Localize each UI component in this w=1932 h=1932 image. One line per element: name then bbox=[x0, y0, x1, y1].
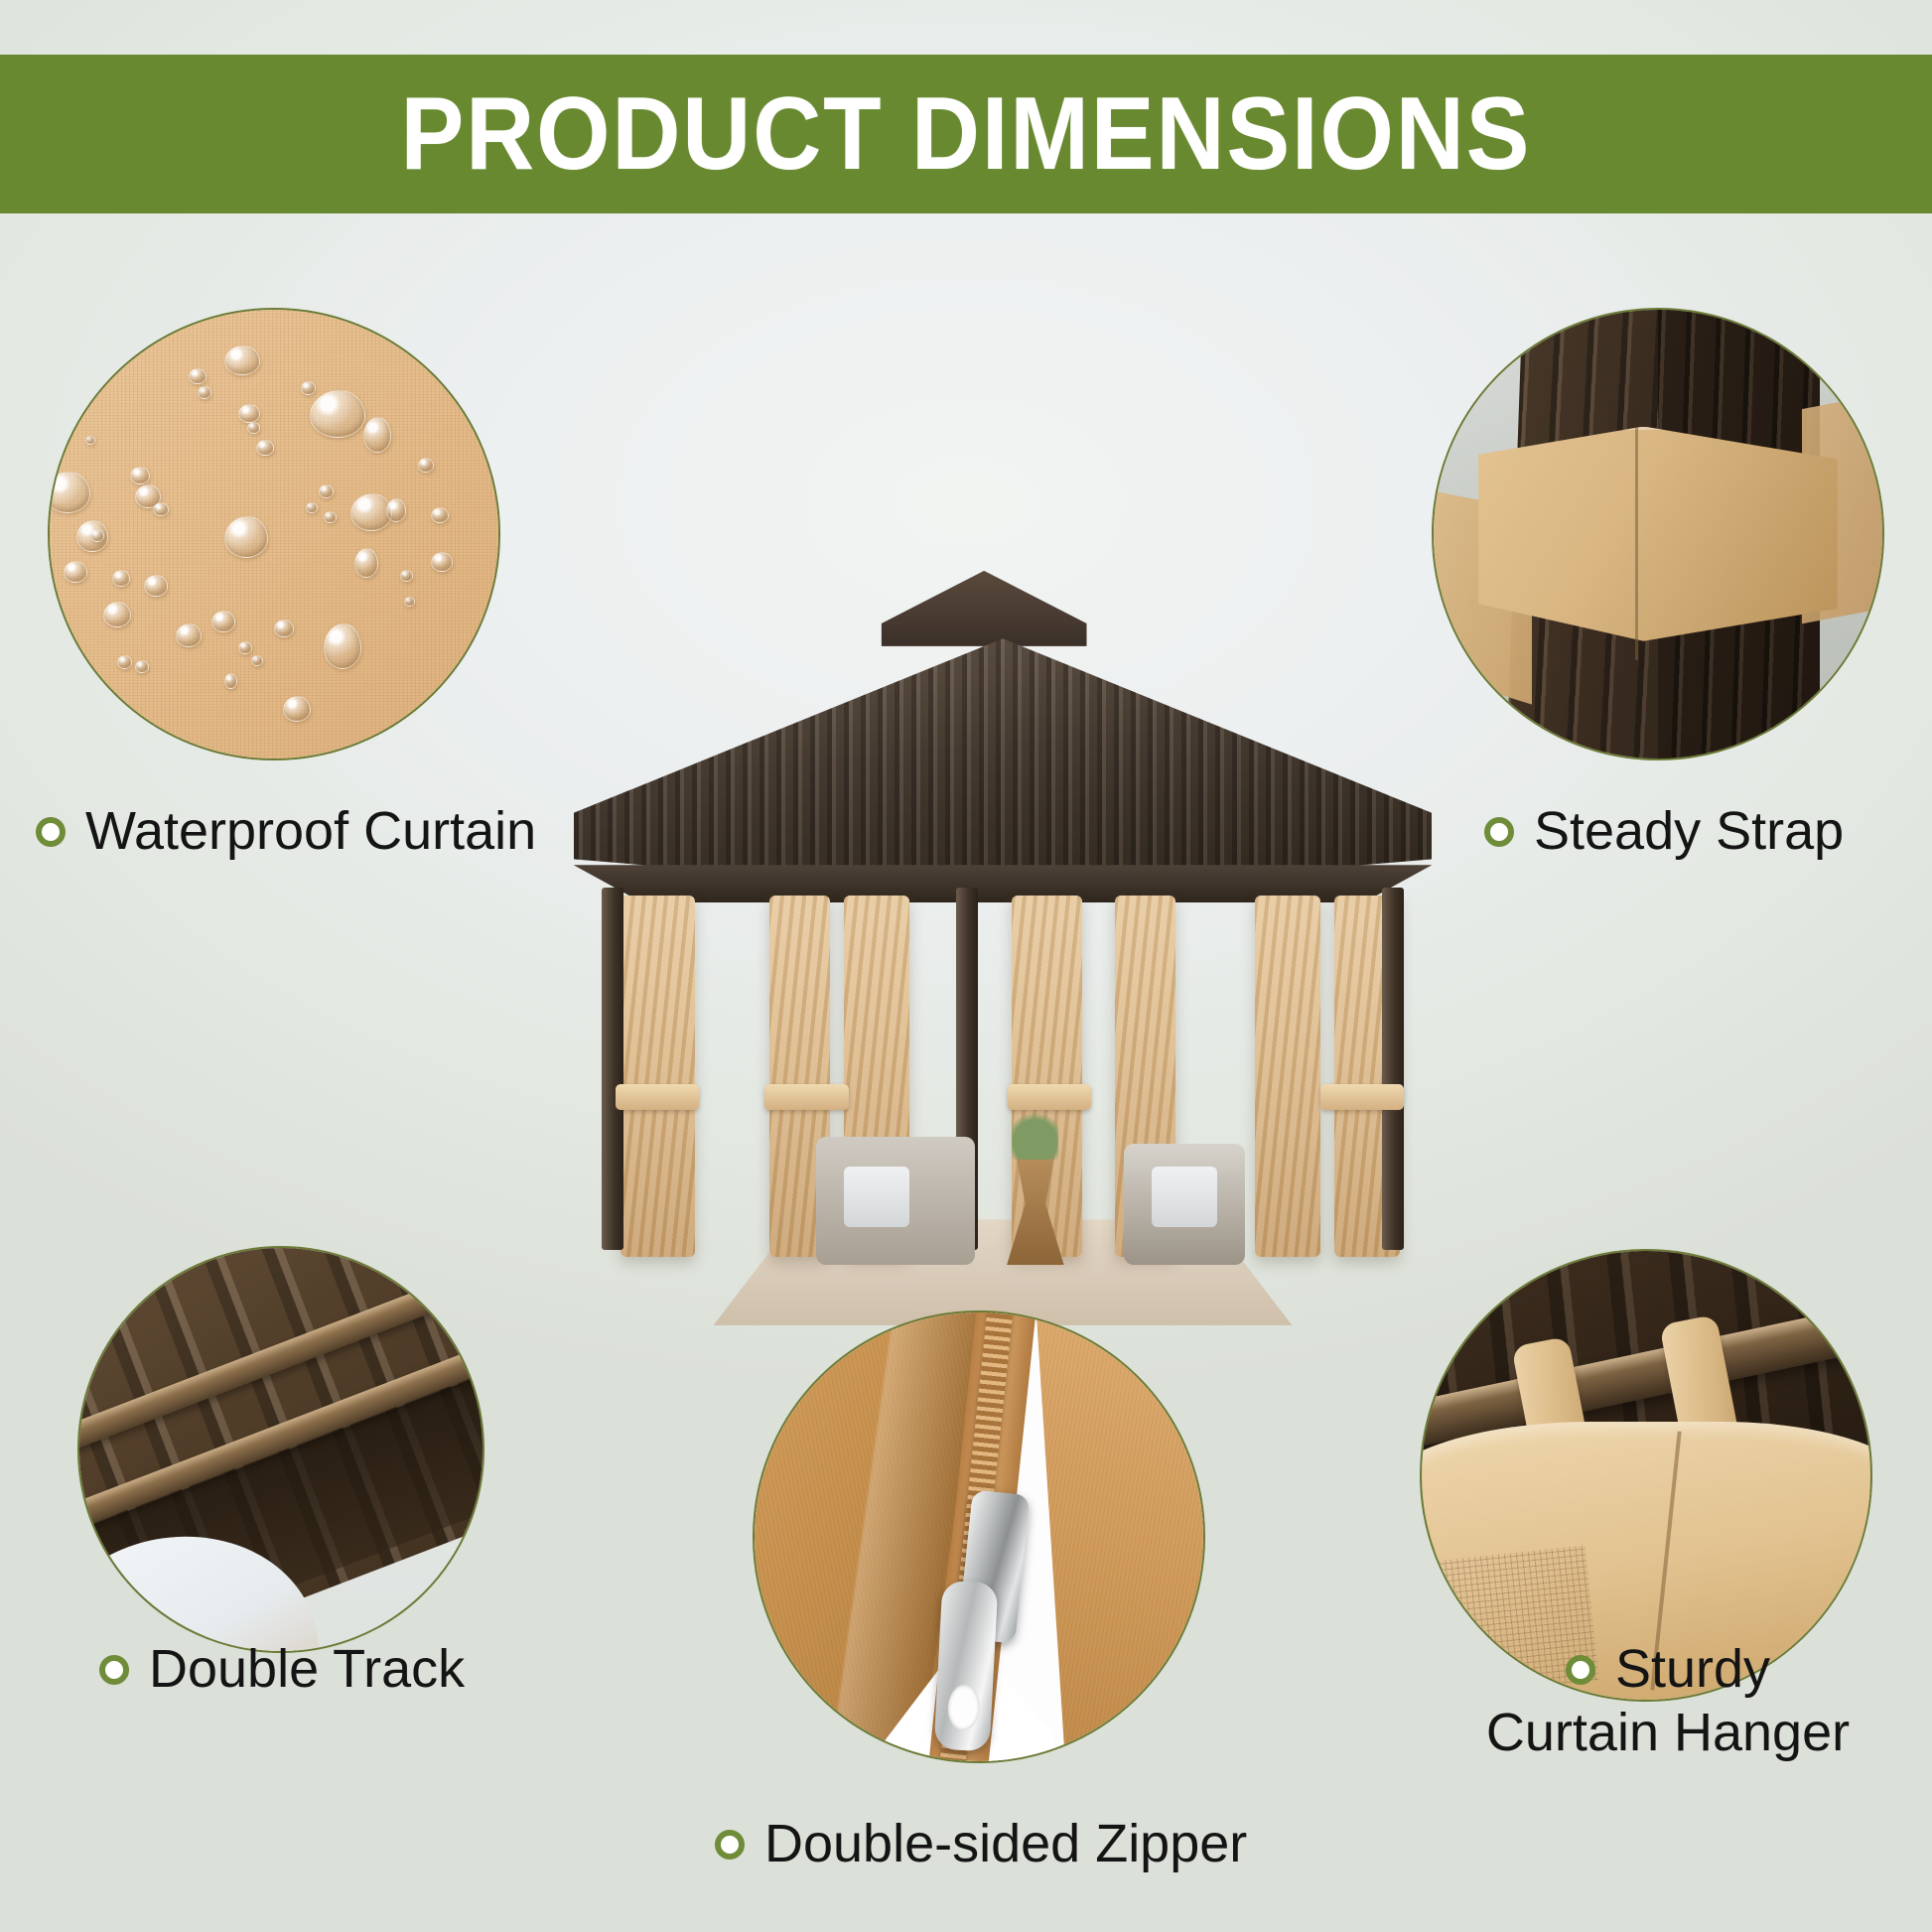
bullet-icon bbox=[715, 1830, 745, 1860]
double-track-photo bbox=[79, 1248, 483, 1651]
curtain-tieback bbox=[616, 1084, 700, 1110]
feature-image-double-track bbox=[77, 1246, 484, 1653]
gazebo-hero-image bbox=[536, 586, 1469, 1340]
cushion bbox=[1152, 1167, 1217, 1227]
feature-image-steady-strap bbox=[1432, 308, 1884, 760]
feature-image-sturdy-curtain-hanger bbox=[1420, 1249, 1872, 1702]
feature-image-waterproof-curtain bbox=[48, 308, 500, 760]
curtain-panel bbox=[1255, 896, 1320, 1258]
zipper-photo bbox=[755, 1312, 1203, 1761]
bullet-icon bbox=[99, 1655, 129, 1685]
bullet-icon bbox=[1566, 1655, 1595, 1685]
waterproof-fabric-texture bbox=[50, 310, 498, 759]
bullet-icon bbox=[36, 817, 66, 847]
curtain-panel bbox=[1012, 896, 1082, 1258]
curtain-tieback bbox=[1320, 1084, 1405, 1110]
feature-image-double-sided-zipper bbox=[753, 1311, 1205, 1763]
cushion bbox=[844, 1167, 909, 1227]
curtain-tieback bbox=[764, 1084, 849, 1110]
feature-label-double-sided-zipper: Double-sided Zipper bbox=[715, 1813, 1410, 1876]
steady-strap-photo bbox=[1434, 310, 1882, 759]
feature-label-sturdy-curtain-hanger: Sturdy Curtain Hanger bbox=[1430, 1638, 1906, 1764]
feature-label-double-track: Double Track bbox=[99, 1638, 616, 1702]
bullet-icon bbox=[1484, 817, 1514, 847]
zipper-pull-tab bbox=[934, 1581, 999, 1752]
curtain-hanger-photo bbox=[1422, 1251, 1870, 1700]
infographic-page: PRODUCT DIMENSIONS bbox=[0, 0, 1932, 1932]
page-title: PRODUCT DIMENSIONS bbox=[401, 82, 1532, 186]
curtain-tieback bbox=[1008, 1084, 1092, 1110]
roof-cupola bbox=[882, 571, 1087, 646]
feature-label-steady-strap: Steady Strap bbox=[1484, 800, 1932, 864]
gazebo-post bbox=[1382, 888, 1404, 1250]
header-banner: PRODUCT DIMENSIONS bbox=[0, 55, 1932, 213]
hardtop-roof bbox=[574, 638, 1433, 895]
gazebo-post bbox=[602, 888, 623, 1250]
curtain-panel bbox=[621, 896, 695, 1258]
